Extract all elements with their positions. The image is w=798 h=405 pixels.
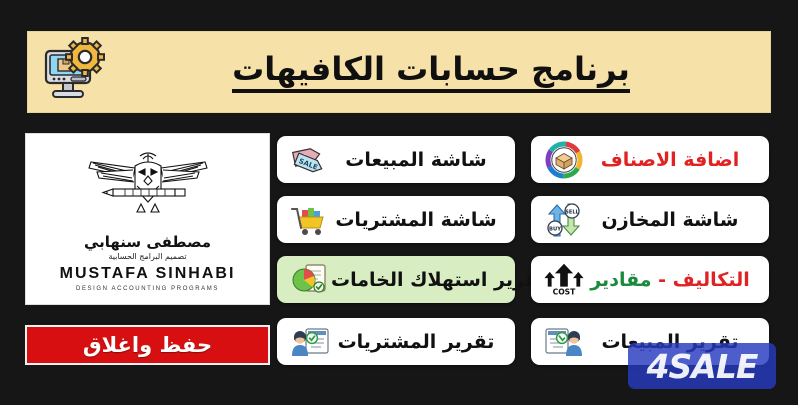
sales-screen-button[interactable]: % SALE شاشة المبيعات <box>277 136 515 183</box>
logo-english-subtitle: DESIGN ACCOUNTING PROGRAMS <box>76 286 219 292</box>
svg-text:SELL: SELL <box>565 209 579 215</box>
computer-gear-icon <box>36 35 110 109</box>
header-bar: برنامج حسابات الكافيهات <box>28 32 770 112</box>
save-and-close-button[interactable]: حفظ واغلاق <box>25 325 270 365</box>
purchases-report-label: تقرير المشتريات <box>331 331 505 353</box>
purchases-screen-button[interactable]: شاشة المشتريات <box>277 196 515 243</box>
page-title: برنامج حسابات الكافيهات <box>232 51 630 94</box>
warehouses-screen-button[interactable]: BUY SELL شاشة المخازن <box>531 196 769 243</box>
person-checklist-icon <box>289 323 331 361</box>
cost-arrows-icon: COST <box>543 261 585 299</box>
purchases-report-button[interactable]: تقرير المشتريات <box>277 318 515 365</box>
svg-text:BUY: BUY <box>549 226 561 232</box>
save-and-close-label: حفظ واغلاق <box>83 333 212 357</box>
shopping-cart-icon <box>289 201 331 239</box>
logo-arabic-subtitle: تصميم البرامج الحسابية <box>108 252 186 261</box>
sales-report-label: تقرير المبيعات <box>585 331 759 353</box>
company-logo-panel: مصطفى سنهابي تصميم البرامج الحسابية MUST… <box>25 133 270 305</box>
sales-report-button[interactable]: تقرير المبيعات <box>531 318 769 365</box>
raw-material-consumption-report-button[interactable]: تقرير استهلاك الخامات <box>277 256 515 303</box>
svg-text:COST: COST <box>553 287 577 296</box>
app-window: برنامج حسابات الكافيهات <box>0 0 798 405</box>
purchases-screen-label: شاشة المشتريات <box>331 209 505 231</box>
pie-chart-report-icon <box>289 261 331 299</box>
header-title-wrap: برنامج حسابات الكافيهات <box>110 32 770 112</box>
costs-quantities-label: التكاليف - مقادير <box>585 269 759 291</box>
costs-quantities-button[interactable]: COST التكاليف - مقادير <box>531 256 769 303</box>
person-checklist-icon <box>543 323 585 361</box>
add-items-label: اضافة الاصناف <box>585 149 759 171</box>
add-items-button[interactable]: اضافة الاصناف <box>531 136 769 183</box>
logo-arabic-name: مصطفى سنهابي <box>84 233 211 251</box>
sale-tag-icon: % SALE <box>289 141 331 179</box>
sales-screen-label: شاشة المبيعات <box>331 149 505 171</box>
owl-pencil-logo <box>73 148 223 232</box>
buy-sell-arrows-icon: BUY SELL <box>543 201 585 239</box>
warehouses-screen-label: شاشة المخازن <box>585 209 759 231</box>
raw-material-consumption-report-label: تقرير استهلاك الخامات <box>331 269 550 291</box>
colored-box-icon <box>543 141 585 179</box>
logo-english-name: MUSTAFA SINHABI <box>60 265 236 283</box>
